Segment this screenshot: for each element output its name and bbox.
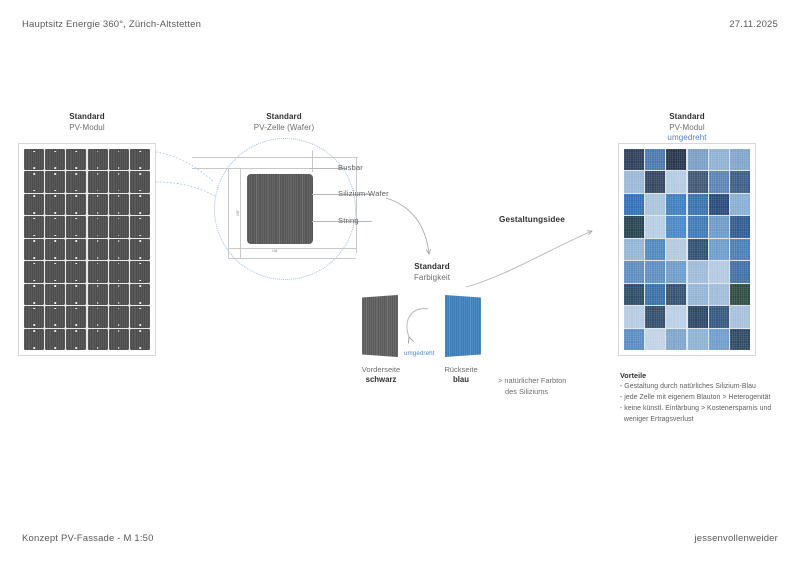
office-name: jessenvollenweider xyxy=(694,533,778,544)
caption-line-2: blau xyxy=(432,375,490,386)
note-line-1: > natürlicher Farbton xyxy=(498,376,566,385)
pv-cell xyxy=(66,261,86,282)
pv-cell xyxy=(645,216,665,237)
pv-cell xyxy=(24,171,44,192)
caption-line-1: Standard xyxy=(18,112,156,123)
pv-cell xyxy=(688,216,708,237)
pv-cell xyxy=(730,261,750,282)
pv-module-flipped-blue xyxy=(618,143,756,356)
pv-cell xyxy=(45,216,65,237)
caption-line-1: Standard xyxy=(372,262,492,273)
pv-cell-grid-blue xyxy=(624,149,750,350)
pv-cell xyxy=(45,329,65,350)
cell-face-surface xyxy=(362,295,398,357)
pv-cell xyxy=(666,149,686,170)
pv-cell xyxy=(688,261,708,282)
dimension-height-label: 156" xyxy=(236,210,240,216)
pv-cell xyxy=(688,194,708,215)
colorfulness-comparison: Standard Farbigkeit umgedreht Vorderseit… xyxy=(352,262,562,397)
pv-cell xyxy=(109,306,129,327)
pv-cell xyxy=(645,149,665,170)
caption-vorderseite: Vorderseite schwarz xyxy=(352,365,410,386)
pv-cell xyxy=(624,261,644,282)
pv-cell xyxy=(666,329,686,350)
pv-cell xyxy=(688,306,708,327)
pv-cell xyxy=(730,239,750,260)
pv-cell xyxy=(666,171,686,192)
pv-cell xyxy=(88,261,108,282)
construction-line-dim xyxy=(228,258,356,259)
pv-cell xyxy=(688,284,708,305)
pv-cell xyxy=(709,216,729,237)
pv-cell xyxy=(730,216,750,237)
pv-cell xyxy=(109,194,129,215)
pv-cell xyxy=(730,149,750,170)
pv-cell xyxy=(624,284,644,305)
pv-cell xyxy=(45,261,65,282)
pv-cell xyxy=(130,194,150,215)
pv-cell xyxy=(730,284,750,305)
pv-cell xyxy=(45,306,65,327)
pv-cell xyxy=(624,216,644,237)
pv-cell xyxy=(688,149,708,170)
pv-cell xyxy=(24,284,44,305)
pv-cell xyxy=(130,149,150,170)
pv-cell xyxy=(666,261,686,282)
benefits-list: Vorteile - Gestaltung durch natürliches … xyxy=(620,370,795,426)
pv-cell xyxy=(45,149,65,170)
pv-cell xyxy=(624,239,644,260)
pv-cell xyxy=(645,284,665,305)
caption-line-1: Standard xyxy=(196,112,372,123)
construction-line-bottom xyxy=(228,248,356,249)
pv-cell xyxy=(688,239,708,260)
pv-cell xyxy=(645,329,665,350)
pv-cell xyxy=(130,329,150,350)
pv-cell xyxy=(66,284,86,305)
pv-cell xyxy=(709,306,729,327)
pv-cell xyxy=(24,306,44,327)
pv-cell xyxy=(109,329,129,350)
pv-cell xyxy=(624,194,644,215)
pv-cell xyxy=(645,306,665,327)
flip-label-umgedreht: umgedreht xyxy=(404,350,434,357)
benefit-item: weniger Ertragsverlust xyxy=(620,415,795,426)
pv-cell xyxy=(109,239,129,260)
caption-line-2: Farbigkeit xyxy=(372,273,492,284)
caption-farbigkeit: Standard Farbigkeit xyxy=(372,262,492,283)
pv-cell xyxy=(666,239,686,260)
pv-cell xyxy=(24,329,44,350)
pv-cell xyxy=(88,329,108,350)
pv-cell xyxy=(688,329,708,350)
pv-cell xyxy=(66,306,86,327)
benefits-title: Vorteile xyxy=(620,370,795,381)
pv-cell xyxy=(709,149,729,170)
caption-rueckseite: Rückseite blau xyxy=(432,365,490,386)
pv-cell xyxy=(130,306,150,327)
pv-cell xyxy=(45,284,65,305)
pv-cell xyxy=(109,261,129,282)
pv-cell xyxy=(666,306,686,327)
caption-line-1: Standard xyxy=(618,112,756,123)
pv-cell xyxy=(66,216,86,237)
pv-cell xyxy=(130,216,150,237)
pv-cell xyxy=(130,261,150,282)
pv-module-standard-black xyxy=(18,143,156,356)
pv-cell xyxy=(666,284,686,305)
pv-cell xyxy=(730,329,750,350)
pv-cell xyxy=(45,194,65,215)
pv-cell xyxy=(709,171,729,192)
pv-cell xyxy=(645,261,665,282)
pv-cell xyxy=(88,216,108,237)
pv-cell xyxy=(66,149,86,170)
pv-cell xyxy=(624,171,644,192)
cell-back-blue xyxy=(445,295,481,357)
pv-cell xyxy=(709,194,729,215)
callout-busbar: Busbar xyxy=(338,163,363,172)
dimension-width-label: 156" xyxy=(272,249,278,253)
pv-cell xyxy=(730,171,750,192)
pv-cell xyxy=(730,306,750,327)
pv-cell xyxy=(45,239,65,260)
pv-cell xyxy=(624,329,644,350)
caption-line-2: PV-Modul xyxy=(618,123,756,134)
pv-cell xyxy=(66,194,86,215)
pv-cell xyxy=(645,171,665,192)
construction-line-top xyxy=(192,157,358,158)
note-line-2: des Siliziums xyxy=(505,387,548,398)
pv-cell xyxy=(109,216,129,237)
cell-face-surface xyxy=(445,295,481,357)
pv-cell xyxy=(66,329,86,350)
pv-cell xyxy=(88,149,108,170)
pv-cell xyxy=(66,239,86,260)
pv-cell xyxy=(666,194,686,215)
pv-cell xyxy=(109,149,129,170)
pv-cell xyxy=(66,171,86,192)
pv-cell-grid-black xyxy=(24,149,150,350)
callout-string: String xyxy=(338,216,359,225)
pv-cell xyxy=(24,239,44,260)
caption-line-2: PV-Modul xyxy=(18,123,156,134)
caption-line-1: Vorderseite xyxy=(362,365,400,374)
pv-cell xyxy=(24,149,44,170)
caption-module-blue: Standard PV-Modul umgedreht xyxy=(618,112,756,144)
pv-cell xyxy=(666,216,686,237)
pv-cell xyxy=(109,171,129,192)
pv-cell xyxy=(730,194,750,215)
pv-cell xyxy=(709,284,729,305)
silicon-wafer-cell xyxy=(247,174,313,244)
pv-cell xyxy=(24,216,44,237)
pv-cell xyxy=(709,239,729,260)
pv-cell xyxy=(88,194,108,215)
pv-cell xyxy=(88,284,108,305)
callout-silizium-wafer: Silizium-Wafer xyxy=(338,189,389,198)
pv-cell xyxy=(24,194,44,215)
drawing-title: Konzept PV-Fassade - M 1:50 xyxy=(22,533,154,544)
project-title: Hauptsitz Energie 360°, Zürich-Altstette… xyxy=(22,19,201,30)
pv-cell xyxy=(88,306,108,327)
pv-cell xyxy=(709,261,729,282)
pv-cell xyxy=(624,306,644,327)
pv-cell xyxy=(688,171,708,192)
caption-module-black: Standard PV-Modul xyxy=(18,112,156,133)
caption-line-2: schwarz xyxy=(352,375,410,386)
pv-cell xyxy=(109,284,129,305)
pv-cell xyxy=(88,171,108,192)
pv-cell xyxy=(645,194,665,215)
pv-cell xyxy=(130,239,150,260)
pv-cell xyxy=(88,239,108,260)
construction-line-v4 xyxy=(240,168,241,258)
label-gestaltungsidee: Gestaltungsidee xyxy=(499,215,565,224)
drawing-sheet: Hauptsitz Energie 360°, Zürich-Altstette… xyxy=(0,0,800,566)
benefit-item: - keine künstl. Einfärbung > Kostenerspa… xyxy=(620,404,795,415)
benefit-item: - Gestaltung durch natürliches Silizium-… xyxy=(620,382,795,393)
construction-line-v3 xyxy=(228,168,229,258)
caption-line-1: Rückseite xyxy=(444,365,477,374)
pv-cell xyxy=(709,329,729,350)
pv-cell xyxy=(45,171,65,192)
pv-cell xyxy=(130,284,150,305)
cell-front-black xyxy=(362,295,398,357)
pv-cell xyxy=(645,239,665,260)
benefit-item: - jede Zelle mit eigenem Blauton > Heter… xyxy=(620,393,795,404)
note-natural-color: > natürlicher Farbton des Siliziums xyxy=(498,376,566,397)
pv-cell xyxy=(24,261,44,282)
pv-cell xyxy=(130,171,150,192)
drawing-date: 27.11.2025 xyxy=(729,19,778,30)
pv-cell xyxy=(624,149,644,170)
